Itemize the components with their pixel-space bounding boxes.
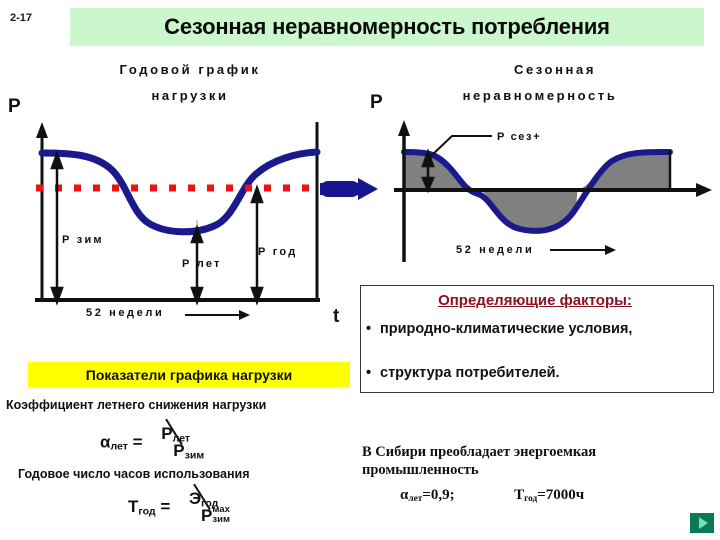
equals-sign: =	[133, 432, 143, 451]
siberia-t-sub: год	[524, 494, 537, 504]
equals-sign-2: =	[160, 497, 170, 516]
label-p-let: Р лет	[182, 258, 222, 270]
right-chart-title-line1: Сезонная	[430, 62, 680, 77]
denominator-subscript: зим	[185, 450, 205, 462]
alpha-subscript: лет	[110, 441, 127, 453]
denominator-symbol: Р	[173, 441, 184, 460]
indicators-title: Показатели графика нагрузки	[28, 362, 350, 387]
left-chart-title-line1: Годовой график	[60, 62, 320, 77]
slide-number: 2-17	[10, 12, 32, 24]
factor-text-1: структура потребителей.	[380, 365, 560, 381]
coefficient-formula: αлет = Рлет Рзим	[100, 424, 204, 462]
page-title: Сезонная неравномерность потребления	[70, 10, 704, 44]
siberia-alpha-value: =0,9;	[422, 487, 454, 503]
t-symbol: Т	[128, 497, 138, 516]
label-weeks-right: 52 недели	[456, 244, 534, 256]
siberia-t-value: =7000ч	[537, 487, 584, 503]
siberia-values: αлет=0,9; Тгод=7000ч	[400, 487, 720, 504]
label-p-god: Р год	[258, 246, 297, 258]
denominator-stack: Рмахзим	[201, 507, 212, 524]
weeks-arrow-right	[550, 245, 616, 255]
factor-list-item-1: •структура потребителей.	[366, 364, 706, 383]
fraction-p-let-over-p-zim: Рлет Рзим	[147, 424, 204, 462]
annual-load-curve-chart	[0, 110, 360, 330]
label-p-zim: Р зим	[62, 234, 104, 246]
play-triangle-icon	[699, 517, 708, 529]
weeks-arrow-left	[185, 310, 250, 320]
bullet-icon-2: •	[366, 364, 380, 383]
factor-text-0: природно-климатические условия,	[380, 321, 632, 337]
right-chart-title-line2: неравномерность	[390, 88, 690, 103]
factor-list-item-0: •природно-климатические условия,	[366, 320, 706, 339]
siberia-note: В Сибири преобладает энергоемкая промышл…	[362, 443, 714, 479]
label-weeks-left: 52 недели	[86, 307, 164, 319]
hours-caption: Годовое число часов использования	[18, 467, 348, 481]
label-p-sez: Р сез+	[497, 131, 541, 143]
siberia-t-symbol: Т	[514, 487, 524, 503]
coefficient-caption: Коэффициент летнего снижения нагрузки	[6, 398, 306, 412]
denominator-symbol-2: Р	[201, 506, 212, 525]
bullet-icon: •	[366, 320, 380, 339]
t-subscript: год	[138, 505, 155, 517]
hours-formula: Тгод = Эгод Рмахзим	[128, 489, 218, 526]
siberia-alpha-sub: лет	[408, 494, 422, 504]
fraction-e-god-over-p-zim-max: Эгод Рмахзим	[175, 489, 218, 526]
factors-title: Определяющие факторы:	[385, 292, 685, 309]
denominator-subscript-2: зим	[212, 515, 230, 525]
alpha-symbol: α	[100, 432, 110, 451]
left-chart-title-line2: нагрузки	[60, 88, 320, 103]
next-slide-button[interactable]	[690, 513, 714, 533]
